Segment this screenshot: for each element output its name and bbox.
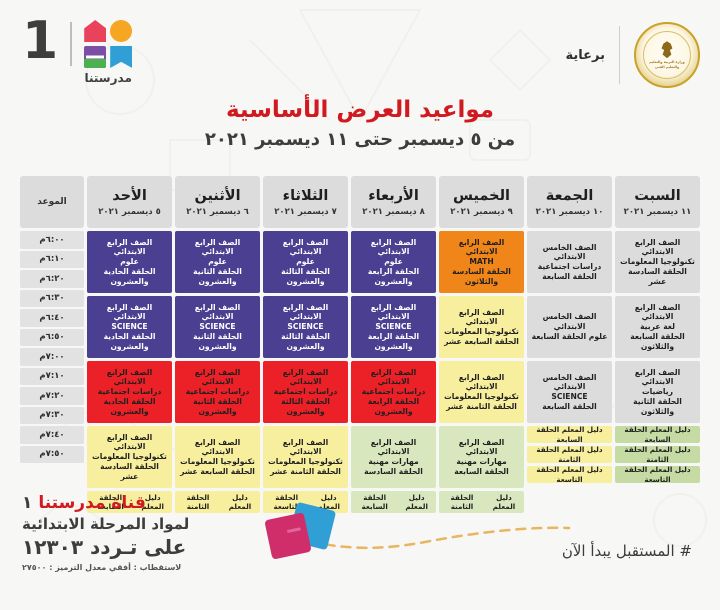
day-header-4[interactable]: الثلاثاء٧ ديسمبر ٢٠٢١ bbox=[263, 176, 348, 228]
program-slot[interactable]: الصف الرابع الابتدائيعلومالحلقة الثانية … bbox=[175, 231, 260, 293]
slot-line-l3: الحلقة السابعة والثلاثون bbox=[618, 332, 697, 351]
program-slot[interactable]: الصف الخامس الابتدائيSCIENCEالحلقة الساب… bbox=[527, 361, 612, 423]
day-date: ١٠ ديسمبر ٢٠٢١ bbox=[536, 207, 604, 217]
program-slot[interactable]: الصف الرابع الابتدائيعلومالحلقة الحادية … bbox=[87, 231, 172, 293]
slot-line-l1: الصف الخامس الابتدائي bbox=[530, 243, 609, 262]
slot-line-l2: دراسات اجتماعية bbox=[362, 387, 425, 397]
day-header-1[interactable]: الجمعة١٠ ديسمبر ٢٠٢١ bbox=[527, 176, 612, 228]
slot-line-l2: علوم bbox=[296, 257, 315, 267]
slot-line-l1: الصف الرابع الابتدائي bbox=[442, 308, 521, 327]
channel-brand: مدرستنا 1 bbox=[22, 20, 132, 85]
slot-line-l3: الحلقة السابعة bbox=[542, 272, 597, 282]
slot-line-l2: دراسات اجتماعية bbox=[538, 262, 601, 272]
program-slot[interactable]: الصف الرابع الابتدائيعلومالحلقة الرابعة … bbox=[351, 231, 436, 293]
day-column-4: الصف الرابع الابتدائيعلومالحلقة الثالثة … bbox=[263, 231, 348, 513]
slot-line-l1: الصف الرابع الابتدائي bbox=[354, 438, 433, 457]
slot-line-l2: SCIENCE bbox=[111, 322, 147, 332]
time-column-label: الموعد bbox=[37, 197, 67, 207]
slot-line-l2: تكنولوجيا المعلومات bbox=[620, 257, 695, 267]
book-bars-icon bbox=[84, 46, 106, 68]
day-date: ٩ ديسمبر ٢٠٢١ bbox=[450, 207, 513, 217]
logo-name: مدرستنا bbox=[85, 71, 132, 85]
day-name: الأثنين bbox=[194, 188, 240, 204]
day-header-5[interactable]: الأثنين٦ ديسمبر ٢٠٢١ bbox=[175, 176, 260, 228]
program-slot[interactable]: الصف الخامس الابتدائيدراسات اجتماعيةالحل… bbox=[527, 231, 612, 293]
schedule-table: السبت١١ ديسمبر ٢٠٢١الجمعة١٠ ديسمبر ٢٠٢١ا… bbox=[20, 176, 700, 513]
channel-info: قناة مدرستنا ١ لمواد المرحلة الابتدائية … bbox=[22, 493, 189, 572]
program-slot[interactable]: الصف الرابع الابتدائيتكنولوجيا المعلومات… bbox=[439, 361, 524, 423]
time-column: ٦:٠٠م٦:١٠م٦:٢٠م٦:٣٠م٦:٤٠م٦:٥٠م٧:٠٠م٧:١٠م… bbox=[20, 231, 84, 513]
slot-line-l2: دراسات اجتماعية bbox=[186, 387, 249, 397]
slot-line-l3: الحلقة الحادية والعشرون bbox=[90, 332, 169, 351]
slot-line-l2: تكنولوجيا المعلومات bbox=[444, 327, 519, 337]
slot-line-l1: دليل المعلم الحلقة الثامنة bbox=[618, 445, 697, 463]
slot-line-l1: الصف الرابع الابتدائي bbox=[618, 238, 697, 257]
time-slot-10: ٧:٤٠م bbox=[20, 426, 84, 444]
slot-line-l2: علوم الحلقة السابعة bbox=[532, 332, 608, 342]
slot-line-l3: الحلقة الثانية والثلاثون bbox=[618, 397, 697, 416]
slot-line-l1: الصف الخامس الابتدائي bbox=[530, 312, 609, 331]
header-divider bbox=[619, 26, 620, 84]
madrasatna-logo: مدرستنا bbox=[84, 20, 132, 85]
channel-info-name: قناة مدرستنا bbox=[38, 493, 146, 513]
channel-info-frequency: على تـردد ١٢٣٠٣ bbox=[22, 535, 189, 559]
slot-line-l1: الصف الرابع الابتدائي bbox=[266, 238, 345, 257]
time-slot-0: ٦:٠٠م bbox=[20, 231, 84, 249]
slot-line-l1: دليل المعلم الحلقة السابعة bbox=[530, 425, 609, 443]
program-slot[interactable]: دليل المعلم الحلقة التاسعة bbox=[615, 466, 700, 483]
slot-line-l3: الحلقة الحادية والعشرون bbox=[90, 267, 169, 286]
time-slot-8: ٧:٢٠م bbox=[20, 387, 84, 405]
ministry-seal-icon: وزارة التربية والتعليم والتعليم الفني bbox=[634, 22, 700, 88]
day-column-3: الصف الرابع الابتدائيعلومالحلقة الرابعة … bbox=[351, 231, 436, 513]
channel-number: 1 bbox=[22, 20, 58, 63]
slot-line-l2: تكنولوجيا المعلومات bbox=[444, 392, 519, 402]
slot-line-l3: الحلقة الرابعة والعشرون bbox=[354, 267, 433, 286]
slot-line-l3: الحلقة الثالثة والعشرون bbox=[266, 267, 345, 286]
slot-line-l3: الحلقة الرابعة والعشرون bbox=[354, 332, 433, 351]
program-slot[interactable]: الصف الرابع الابتدائيتكنولوجيا المعلومات… bbox=[175, 426, 260, 488]
program-slot[interactable]: دليل المعلم الحلقة السابعة bbox=[527, 426, 612, 443]
slot-line-l2: SCIENCE bbox=[375, 322, 411, 332]
slot-line-l3: الحلقة السابعة bbox=[542, 402, 597, 412]
slot-line-l3: الحلقة الثانية والعشرون bbox=[178, 267, 257, 286]
day-header-0[interactable]: السبت١١ ديسمبر ٢٠٢١ bbox=[615, 176, 700, 228]
time-slot-11: ٧:٥٠م bbox=[20, 446, 84, 464]
patron-label: برعاية bbox=[566, 48, 606, 63]
slot-line-l1: الصف الرابع الابتدائي bbox=[90, 368, 169, 387]
slot-line-l1: الصف الرابع الابتدائي bbox=[90, 238, 169, 257]
slot-line-l2: مهارات مهنية bbox=[368, 457, 418, 467]
program-slot[interactable]: الصف الرابع الابتدائيSCIENCEالحلقة الثان… bbox=[175, 296, 260, 358]
day-column-2: الصف الرابع الابتدائيMATHالحلقة السادسة … bbox=[439, 231, 524, 513]
day-name: الخميس bbox=[453, 188, 510, 204]
day-column-1: الصف الخامس الابتدائيدراسات اجتماعيةالحل… bbox=[527, 231, 612, 513]
slot-line-l1: الصف الرابع الابتدائي bbox=[442, 438, 521, 457]
slot-line-l3: الحلقة السادسة bbox=[364, 467, 423, 477]
program-slot[interactable]: الصف الرابع الابتدائيSCIENCEالحلقة الثال… bbox=[263, 296, 348, 358]
eagle-icon bbox=[661, 41, 674, 58]
day-header-6[interactable]: الأحد٥ ديسمبر ٢٠٢١ bbox=[87, 176, 172, 228]
slot-line-l1: الصف الرابع الابتدائي bbox=[266, 438, 345, 457]
program-slot[interactable]: دليل المعلم الحلقة السابعة bbox=[615, 426, 700, 443]
slot-line-l2: تكنولوجيا المعلومات bbox=[268, 457, 343, 467]
program-slot[interactable]: الصف الرابع الابتدائيعلومالحلقة الثالثة … bbox=[263, 231, 348, 293]
time-slot-6: ٧:٠٠م bbox=[20, 348, 84, 366]
time-slot-5: ٦:٥٠م bbox=[20, 329, 84, 347]
slot-line-l1: الصف الرابع الابتدائي bbox=[618, 368, 697, 387]
program-slot[interactable]: دليل المعلم الحلقة التاسعة bbox=[527, 466, 612, 483]
program-slot[interactable]: الصف الخامس الابتدائيعلوم الحلقة السابعة bbox=[527, 296, 612, 358]
slot-line-l1: الصف الرابع الابتدائي bbox=[178, 238, 257, 257]
schedule-header-row: السبت١١ ديسمبر ٢٠٢١الجمعة١٠ ديسمبر ٢٠٢١ا… bbox=[20, 176, 700, 228]
page-subtitle: من ٥ ديسمبر حتى ١١ ديسمبر ٢٠٢١ bbox=[0, 129, 720, 150]
day-name: الجمعة bbox=[546, 188, 594, 204]
day-date: ٥ ديسمبر ٢٠٢١ bbox=[98, 207, 161, 217]
slot-line-l2: تكنولوجيا المعلومات bbox=[180, 457, 255, 467]
day-header-3[interactable]: الأربعاء٨ ديسمبر ٢٠٢١ bbox=[351, 176, 436, 228]
slot-line-l2: تكنولوجيا المعلومات bbox=[92, 452, 167, 462]
slot-line-l3: الحلقة الثانية والعشرون bbox=[178, 397, 257, 416]
title-block: مواعيد العرض الأساسية من ٥ ديسمبر حتى ١١… bbox=[0, 97, 720, 150]
slot-line-l3: الحلقة الثالثة والعشرون bbox=[266, 332, 345, 351]
program-slot[interactable]: دليل المعلم الحلقة الثامنة bbox=[615, 446, 700, 463]
ministry-brand: وزارة التربية والتعليم والتعليم الفني بر… bbox=[566, 22, 701, 88]
slot-line-l3: الحلقة السادسة عشر bbox=[90, 462, 169, 481]
day-name: الأربعاء bbox=[368, 188, 419, 204]
slot-line-l3: الحلقة الثامنة عشر bbox=[270, 467, 341, 477]
slot-line-l1: الصف الرابع الابتدائي bbox=[618, 303, 697, 322]
slot-line-l3: الحلقة الحادية والعشرون bbox=[90, 397, 169, 416]
program-slot[interactable]: الصف الرابع الابتدائيمهارات مهنيةالحلقة … bbox=[351, 426, 436, 488]
slot-line-l2: دراسات اجتماعية bbox=[98, 387, 161, 397]
slot-line-l2: رياضيات bbox=[642, 387, 673, 397]
slot-line-l1: الصف الرابع الابتدائي bbox=[90, 433, 169, 452]
day-header-2[interactable]: الخميس٩ ديسمبر ٢٠٢١ bbox=[439, 176, 524, 228]
slot-line-l1: الصف الرابع الابتدائي bbox=[442, 238, 521, 257]
slot-line-l2: مهارات مهنية bbox=[456, 457, 506, 467]
hashtag-text: # المستقبل يبدأ الآن bbox=[562, 542, 692, 560]
program-slot[interactable]: الصف الرابع الابتدائيدراسات اجتماعيةالحل… bbox=[87, 361, 172, 423]
slot-line-l2: دراسات اجتماعية bbox=[274, 387, 337, 397]
logo-shapes bbox=[84, 20, 132, 68]
time-column-header: الموعد bbox=[20, 176, 84, 228]
time-slot-2: ٦:٢٠م bbox=[20, 270, 84, 288]
day-name: الثلاثاء bbox=[283, 188, 329, 204]
slot-line-l1: الصف الرابع الابتدائي bbox=[354, 238, 433, 257]
slot-line-l2: لغة عربية bbox=[640, 322, 675, 332]
day-name: السبت bbox=[634, 188, 680, 204]
time-slot-1: ٦:١٠م bbox=[20, 251, 84, 269]
slot-line-l3: الحلقة السابعة عشر bbox=[180, 467, 255, 477]
poster-footer: # المستقبل يبدأ الآن قناة مدرستنا ١ لموا… bbox=[0, 491, 720, 606]
day-column-6: الصف الرابع الابتدائيعلومالحلقة الحادية … bbox=[87, 231, 172, 513]
slot-line-l3: الحلقة الثامنة عشر bbox=[446, 402, 517, 412]
slot-line-l2: MATH bbox=[469, 257, 493, 267]
slot-line-l3: الحلقة الرابعة والعشرون bbox=[354, 397, 433, 416]
slot-line-l3: الحلقة السادسة عشر bbox=[618, 267, 697, 286]
slot-line-l1: دليل المعلم الحلقة التاسعة bbox=[618, 465, 697, 483]
time-slot-4: ٦:٤٠م bbox=[20, 309, 84, 327]
channel-divider bbox=[70, 22, 72, 66]
slot-line-l1: الصف الخامس الابتدائي bbox=[530, 373, 609, 392]
slot-line-l1: الصف الرابع الابتدائي bbox=[178, 303, 257, 322]
seal-label: وزارة التربية والتعليم والتعليم الفني bbox=[644, 60, 690, 69]
program-slot[interactable]: الصف الرابع الابتدائيدراسات اجتماعيةالحل… bbox=[351, 361, 436, 423]
slot-line-l1: دليل المعلم الحلقة التاسعة bbox=[530, 465, 609, 483]
schedule-body: الصف الرابع الابتدائيتكنولوجيا المعلومات… bbox=[20, 231, 700, 513]
slot-line-l1: الصف الرابع الابتدائي bbox=[178, 368, 257, 387]
program-slot[interactable]: الصف الرابع الابتدائيدراسات اجتماعيةالحل… bbox=[263, 361, 348, 423]
program-slot[interactable]: الصف الرابع الابتدائيدراسات اجتماعيةالحل… bbox=[175, 361, 260, 423]
channel-info-line2: لمواد المرحلة الابتدائية bbox=[22, 515, 189, 533]
slot-line-l1: دليل المعلم الحلقة الثامنة bbox=[530, 445, 609, 463]
slot-line-l1: الصف الرابع الابتدائي bbox=[354, 303, 433, 322]
day-name: الأحد bbox=[112, 188, 147, 204]
slot-line-l2: علوم bbox=[384, 257, 403, 267]
day-column-0: الصف الرابع الابتدائيتكنولوجيا المعلومات… bbox=[615, 231, 700, 513]
slot-line-l1: دليل المعلم الحلقة السابعة bbox=[618, 425, 697, 443]
time-slot-7: ٧:١٠م bbox=[20, 368, 84, 386]
slot-line-l1: الصف الرابع الابتدائي bbox=[354, 368, 433, 387]
day-date: ٨ ديسمبر ٢٠٢١ bbox=[362, 207, 425, 217]
program-slot[interactable]: الصف الرابع الابتدائيSCIENCEالحلقة الحاد… bbox=[87, 296, 172, 358]
slot-line-l2: SCIENCE bbox=[551, 392, 587, 402]
day-column-5: الصف الرابع الابتدائيعلومالحلقة الثانية … bbox=[175, 231, 260, 513]
slot-line-l2: SCIENCE bbox=[287, 322, 323, 332]
program-slot[interactable]: الصف الرابع الابتدائيSCIENCEالحلقة الراب… bbox=[351, 296, 436, 358]
slot-line-l3: الحلقة السابعة عشر bbox=[444, 337, 519, 347]
channel-info-line1: قناة مدرستنا ١ bbox=[22, 493, 189, 513]
slot-line-l1: الصف الرابع الابتدائي bbox=[266, 303, 345, 322]
day-date: ٧ ديسمبر ٢٠٢١ bbox=[274, 207, 337, 217]
program-slot[interactable]: الصف الرابع الابتدائيرياضياتالحلقة الثان… bbox=[615, 361, 700, 423]
time-slot-3: ٦:٣٠م bbox=[20, 290, 84, 308]
program-slot[interactable]: الصف الرابع الابتدائيتكنولوجيا المعلومات… bbox=[263, 426, 348, 488]
program-slot[interactable]: الصف الرابع الابتدائيمهارات مهنيةالحلقة … bbox=[439, 426, 524, 488]
page-title: مواعيد العرض الأساسية bbox=[0, 97, 720, 123]
books-icon bbox=[268, 504, 338, 560]
program-slot[interactable]: الصف الرابع الابتدائيتكنولوجيا المعلومات… bbox=[439, 296, 524, 358]
channel-info-number: ١ bbox=[22, 493, 32, 513]
program-slot[interactable]: الصف الرابع الابتدائيلغة عربيةالحلقة الس… bbox=[615, 296, 700, 358]
program-slot[interactable]: الصف الرابع الابتدائيتكنولوجيا المعلومات… bbox=[87, 426, 172, 488]
slot-line-l2: SCIENCE bbox=[199, 322, 235, 332]
day-date: ١١ ديسمبر ٢٠٢١ bbox=[624, 207, 692, 217]
day-date: ٦ ديسمبر ٢٠٢١ bbox=[186, 207, 249, 217]
program-slot[interactable]: الصف الرابع الابتدائيMATHالحلقة السادسة … bbox=[439, 231, 524, 293]
slot-line-l2: علوم bbox=[208, 257, 227, 267]
pen-icon bbox=[110, 46, 132, 68]
program-slot[interactable]: دليل المعلم الحلقة الثامنة bbox=[527, 446, 612, 463]
slot-line-l3: الحلقة الثالثة والعشرون bbox=[266, 397, 345, 416]
poster-header: وزارة التربية والتعليم والتعليم الفني بر… bbox=[0, 0, 720, 95]
slot-line-l1: الصف الرابع الابتدائي bbox=[178, 438, 257, 457]
schedule-poster: وزارة التربية والتعليم والتعليم الفني بر… bbox=[0, 0, 720, 606]
slot-line-l1: الصف الرابع الابتدائي bbox=[266, 368, 345, 387]
slot-line-l3: الحلقة الثانية والعشرون bbox=[178, 332, 257, 351]
program-slot[interactable]: الصف الرابع الابتدائيتكنولوجيا المعلومات… bbox=[615, 231, 700, 293]
slot-line-l1: الصف الرابع الابتدائي bbox=[90, 303, 169, 322]
house-icon bbox=[84, 20, 106, 42]
slot-line-l2: علوم bbox=[120, 257, 139, 267]
circle-icon bbox=[110, 20, 132, 42]
slot-line-l3: الحلقة السابعة bbox=[454, 467, 509, 477]
slot-line-l1: الصف الرابع الابتدائي bbox=[442, 373, 521, 392]
time-slot-9: ٧:٣٠م bbox=[20, 407, 84, 425]
channel-info-technical: لاستقطاب : أفقي معدل الترميز : ٢٧٥٠٠ bbox=[22, 563, 189, 572]
slot-line-l3: الحلقة السادسة والثلاثون bbox=[442, 267, 521, 286]
